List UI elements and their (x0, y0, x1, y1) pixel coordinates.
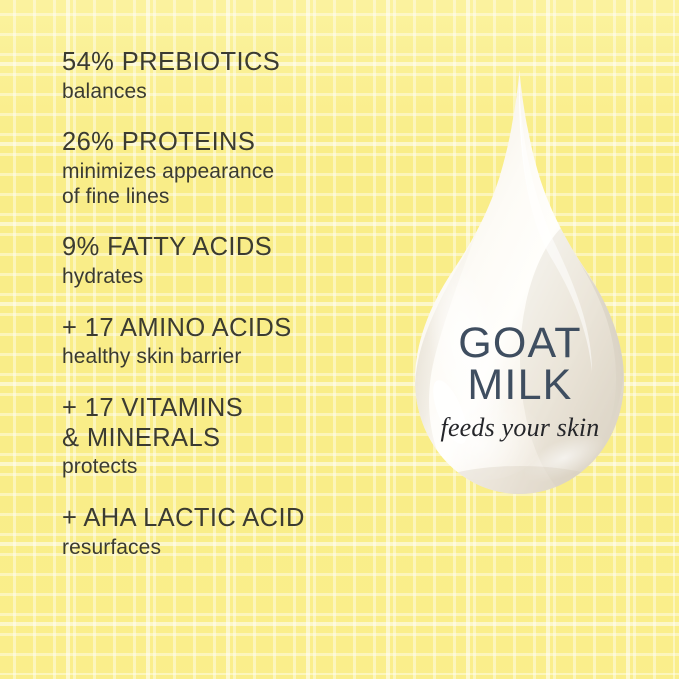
ingredient-benefit: minimizes appearance of fine lines (62, 160, 392, 210)
list-item: + 17 VITAMINS & MINERALS protects (62, 394, 392, 480)
list-item: 26% PROTEINS minimizes appearance of fin… (62, 128, 392, 209)
ingredient-benefit: balances (62, 80, 392, 105)
list-item: + AHA LACTIC ACID resurfaces (62, 504, 392, 560)
ingredient-benefit: hydrates (62, 265, 392, 290)
ingredient-benefit: protects (62, 455, 392, 480)
list-item: 54% PREBIOTICS balances (62, 48, 392, 104)
milk-droplet-icon (392, 60, 648, 556)
ingredient-title: 26% PROTEINS (62, 128, 392, 158)
ingredient-list: 54% PREBIOTICS balances 26% PROTEINS min… (62, 48, 392, 560)
ingredient-title: 9% FATTY ACIDS (62, 233, 392, 263)
ingredient-title: + 17 VITAMINS & MINERALS (62, 394, 392, 453)
ingredient-benefit: healthy skin barrier (62, 345, 392, 370)
ingredient-title: + AHA LACTIC ACID (62, 504, 392, 534)
ingredient-title: 54% PREBIOTICS (62, 48, 392, 78)
list-item: + 17 AMINO ACIDS healthy skin barrier (62, 314, 392, 370)
infographic-poster: 54% PREBIOTICS balances 26% PROTEINS min… (0, 0, 679, 679)
ingredient-title: + 17 AMINO ACIDS (62, 314, 392, 344)
ingredient-benefit: resurfaces (62, 536, 392, 561)
list-item: 9% FATTY ACIDS hydrates (62, 233, 392, 289)
